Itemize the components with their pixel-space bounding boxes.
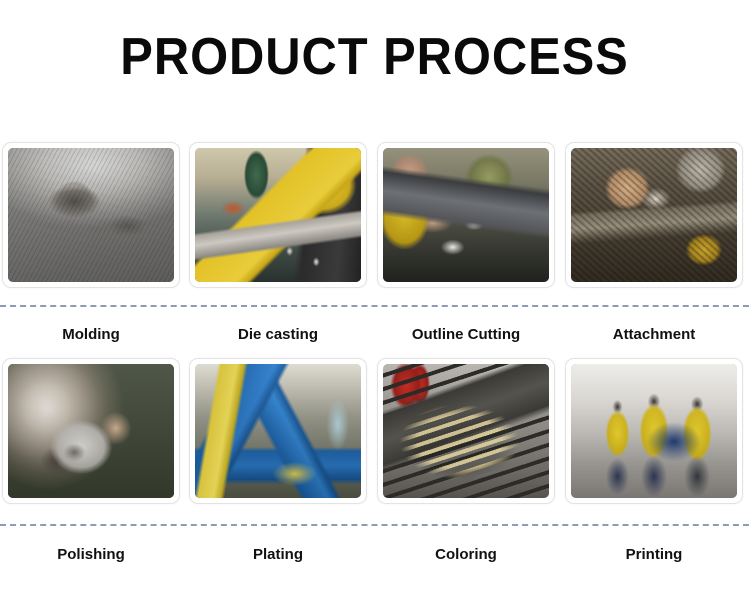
- page-title: PRODUCT PROCESS: [22, 28, 726, 86]
- process-card-polishing[interactable]: [2, 358, 180, 504]
- process-card-coloring[interactable]: [377, 358, 555, 504]
- plating-photo-detail: [195, 364, 361, 498]
- die-casting-photo: [195, 148, 361, 282]
- die-casting-photo-detail: [195, 148, 361, 282]
- process-card-strip-1: [0, 142, 749, 288]
- plating-photo: [195, 364, 361, 498]
- process-card-strip-2: [0, 358, 749, 504]
- section-divider-2: [0, 524, 749, 526]
- printing-photo: [571, 364, 737, 498]
- process-label-molding: Molding: [2, 325, 180, 345]
- molding-photo-detail: [8, 148, 174, 282]
- outline-cutting-photo: [383, 148, 549, 282]
- molding-photo: [8, 148, 174, 282]
- process-caption-row-2: Polishing Plating Coloring Printing: [0, 545, 749, 569]
- coloring-photo-detail: [383, 364, 549, 498]
- process-card-attachment[interactable]: [565, 142, 743, 288]
- process-row-1: [0, 142, 749, 288]
- process-card-outline-cutting[interactable]: [377, 142, 555, 288]
- polishing-photo-detail: [8, 364, 174, 498]
- process-card-printing[interactable]: [565, 358, 743, 504]
- printing-photo-detail: [571, 364, 737, 498]
- process-label-coloring: Coloring: [377, 545, 555, 565]
- process-label-outline-cutting: Outline Cutting: [377, 325, 555, 345]
- outline-cutting-photo-detail: [383, 148, 549, 282]
- process-label-printing: Printing: [565, 545, 743, 565]
- process-label-attachment: Attachment: [565, 325, 743, 345]
- process-row-2: [0, 358, 749, 504]
- process-label-polishing: Polishing: [2, 545, 180, 565]
- attachment-photo-detail: [571, 148, 737, 282]
- process-label-die-casting: Die casting: [189, 325, 367, 345]
- process-label-plating: Plating: [189, 545, 367, 565]
- polishing-photo: [8, 364, 174, 498]
- process-card-die-casting[interactable]: [189, 142, 367, 288]
- coloring-photo: [383, 364, 549, 498]
- section-divider-1: [0, 305, 749, 307]
- process-card-plating[interactable]: [189, 358, 367, 504]
- process-card-molding[interactable]: [2, 142, 180, 288]
- attachment-photo: [571, 148, 737, 282]
- process-caption-row-1: Molding Die casting Outline Cutting Atta…: [0, 325, 749, 349]
